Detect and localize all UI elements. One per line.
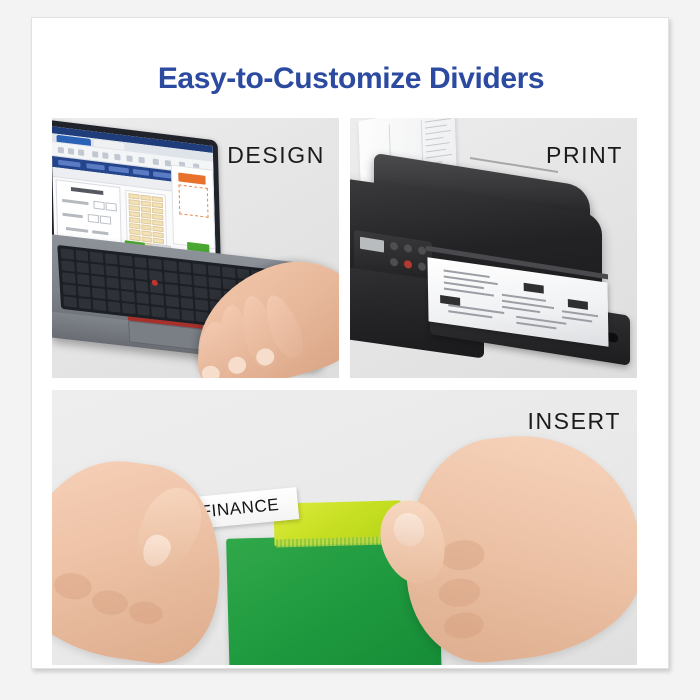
page-title: Easy-to-Customize Dividers bbox=[32, 62, 669, 96]
page-background: Easy-to-Customize Dividers bbox=[0, 0, 700, 700]
product-image-sheet: Easy-to-Customize Dividers bbox=[31, 17, 669, 669]
fingernail bbox=[227, 356, 247, 375]
laptop-trackpoint bbox=[152, 279, 158, 286]
screen-preview-panel bbox=[171, 165, 215, 250]
panel-design: DESIGN bbox=[52, 118, 339, 378]
thumbnail-left bbox=[138, 531, 175, 571]
label-strip-text: FINANCE bbox=[200, 495, 280, 522]
printer-display bbox=[360, 237, 384, 253]
panel-label-insert: INSERT bbox=[527, 408, 621, 435]
panel-label-print: PRINT bbox=[546, 142, 623, 169]
panel-print: PRINT bbox=[350, 118, 637, 378]
screen-preview-frame bbox=[179, 184, 209, 217]
fingernail bbox=[201, 365, 220, 378]
thumbnail-right bbox=[389, 509, 428, 551]
screen-preview-swatch bbox=[178, 172, 205, 184]
fingernail bbox=[255, 347, 276, 368]
panel-label-design: DESIGN bbox=[227, 142, 325, 169]
panel-insert: FINANCE INSERT bbox=[52, 390, 637, 665]
